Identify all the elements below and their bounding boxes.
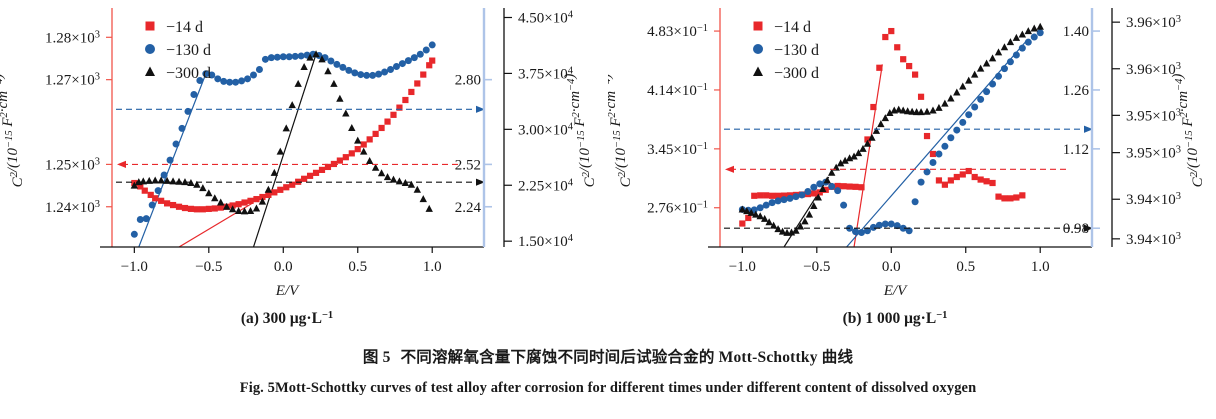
annotation-arrowhead (725, 166, 734, 173)
x-tick-label: 1.0 (1031, 259, 1050, 275)
marker-square (378, 125, 384, 131)
marker-triangle (995, 48, 1002, 55)
marker-square (858, 184, 864, 190)
marker-circle (941, 143, 948, 150)
marker-square (390, 112, 396, 118)
marker-circle (423, 47, 430, 54)
marker-square (989, 180, 995, 186)
fit-line (253, 54, 316, 247)
marker-square (402, 97, 408, 103)
marker-circle (983, 88, 990, 95)
marker-square (367, 136, 373, 142)
inner-right-tick-label: 1.40 (1063, 24, 1089, 40)
marker-circle (852, 228, 859, 235)
marker-circle (935, 150, 942, 157)
right-y-tick-label: 3.95×103 (1126, 145, 1181, 162)
figure-mott-schottky: −1.0−0.50.00.51.0E/V(a) 300 μg·L−11.28×1… (0, 0, 1216, 419)
marker-circle (912, 198, 919, 205)
marker-square (277, 187, 283, 193)
marker-triangle (971, 71, 978, 78)
caption-chinese-number: 图 5 (363, 349, 391, 366)
panel-a-plot: −1.0−0.50.00.51.0E/V(a) 300 μg·L−11.28×1… (0, 0, 608, 340)
marker-triangle (420, 195, 427, 202)
marker-square (420, 71, 426, 77)
marker-circle (798, 191, 805, 198)
marker-triangle (1037, 23, 1044, 30)
panel-a-300: −1.0−0.50.00.51.0E/V(a) 300 μg·L−11.28×1… (0, 0, 608, 340)
marker-triangle (300, 63, 307, 70)
marker-circle (834, 187, 841, 194)
marker-circle (781, 196, 788, 203)
marker-square (983, 178, 989, 184)
marker-square (313, 170, 319, 176)
caption-english-number: Fig. 5 (240, 380, 275, 396)
right-y-tick-label: 3.94×103 (1126, 191, 1181, 208)
marker-triangle (289, 101, 296, 108)
inner-right-tick-label: 2.80 (455, 73, 481, 89)
marker-triangle (414, 186, 421, 193)
left-y-tick-label: 2.76×10−1 (647, 200, 708, 217)
marker-circle (244, 75, 251, 82)
marker-square (253, 196, 259, 202)
marker-square (235, 201, 241, 207)
panel-subcaption: (a) 300 μg·L−1 (241, 310, 333, 327)
annotation-arrowhead (117, 161, 126, 168)
marker-triangle (953, 89, 960, 96)
marker-square (924, 133, 930, 139)
marker-triangle (965, 77, 972, 84)
marker-square (1001, 195, 1007, 201)
marker-square (349, 150, 355, 156)
marker-triangle (1025, 27, 1032, 34)
marker-square (769, 193, 775, 199)
caption-chinese-text: 不同溶解氧含量下腐蚀不同时间后试验合金的 Mott-Schottky 曲线 (401, 349, 854, 366)
legend-marker-circle (145, 44, 155, 54)
marker-circle (333, 61, 340, 68)
marker-square (206, 206, 212, 212)
marker-circle (214, 75, 221, 82)
marker-triangle (396, 177, 403, 184)
marker-circle (155, 187, 162, 194)
x-tick-label: −1.0 (121, 259, 148, 275)
marker-circle (995, 73, 1002, 80)
panel-b-1000: −1.0−0.50.00.51.0E/V(b) 1 000 μg·L−14.83… (608, 0, 1216, 340)
marker-circle (357, 71, 364, 78)
right-y-tick-label: 3.95×103 (1126, 107, 1181, 124)
marker-circle (411, 54, 418, 61)
marker-square (271, 189, 277, 195)
x-axis-title: E/V (275, 283, 300, 299)
marker-square (283, 184, 289, 190)
marker-square (241, 199, 247, 205)
marker-circle (977, 96, 984, 103)
marker-triangle (342, 110, 349, 117)
left-axis-title: C2/(10−15 F2·cm−4) (0, 74, 26, 188)
marker-circle (1031, 34, 1038, 41)
marker-circle (369, 72, 376, 79)
left-y-tick-label: 1.27×103 (45, 72, 100, 89)
marker-circle (953, 127, 960, 134)
legend-label: −130 d (166, 42, 211, 59)
x-axis-title: E/V (883, 283, 908, 299)
marker-circle (250, 72, 257, 79)
marker-square (307, 173, 313, 179)
marker-square (954, 174, 960, 180)
marker-circle (870, 224, 877, 231)
inner-right-tick-label: 2.24 (455, 200, 482, 216)
marker-square (960, 171, 966, 177)
marker-square (936, 177, 942, 183)
marker-circle (1007, 58, 1014, 65)
right-y-tick-label: 3.94×103 (1126, 231, 1181, 248)
legend-marker-square (146, 22, 155, 31)
legend-label: −14 d (166, 19, 203, 36)
marker-triangle (354, 137, 361, 144)
marker-square (1013, 194, 1019, 200)
marker-circle (190, 91, 197, 98)
left-y-tick-label: 4.83×10−1 (647, 23, 708, 40)
legend-marker-triangle (753, 67, 763, 77)
marker-circle (381, 69, 388, 76)
marker-square (373, 131, 379, 137)
marker-circle (167, 157, 174, 164)
marker-circle (1019, 45, 1026, 52)
marker-square (182, 205, 188, 211)
marker-square (978, 176, 984, 182)
marker-circle (143, 215, 150, 222)
marker-triangle (390, 176, 397, 183)
marker-circle (989, 80, 996, 87)
marker-square (763, 192, 769, 198)
marker-triangle (217, 199, 224, 206)
marker-triangle (277, 148, 284, 155)
marker-triangle (265, 186, 272, 193)
left-y-tick-label: 1.28×103 (45, 29, 100, 46)
marker-triangle (366, 157, 373, 164)
marker-circle (363, 72, 370, 79)
marker-square (164, 200, 170, 206)
marker-square (158, 198, 164, 204)
marker-circle (840, 202, 847, 209)
marker-triangle (169, 177, 176, 184)
marker-square (355, 146, 361, 152)
marker-square (361, 141, 367, 147)
left-y-tick-label: 3.45×10−1 (647, 141, 708, 158)
marker-circle (405, 57, 412, 64)
marker-circle (965, 111, 972, 118)
marker-square (1007, 195, 1013, 201)
marker-triangle (983, 60, 990, 67)
marker-triangle (426, 205, 433, 212)
marker-square (343, 154, 349, 160)
marker-triangle (947, 94, 954, 101)
marker-circle (137, 216, 144, 223)
marker-triangle (360, 148, 367, 155)
marker-circle (292, 53, 299, 60)
marker-circle (1037, 29, 1044, 36)
marker-square (906, 63, 912, 69)
marker-circle (268, 54, 275, 61)
marker-square (188, 206, 194, 212)
marker-circle (971, 104, 978, 111)
marker-square (912, 71, 918, 77)
marker-circle (959, 119, 966, 126)
marker-circle (769, 199, 776, 206)
marker-circle (226, 79, 233, 86)
x-tick-label: 0.0 (274, 259, 293, 275)
marker-square (918, 94, 924, 100)
marker-triangle (324, 67, 331, 74)
marker-triangle (929, 106, 936, 113)
marker-triangle (384, 173, 391, 180)
marker-circle (1013, 51, 1020, 58)
x-tick-label: −0.5 (195, 259, 222, 275)
marker-triangle (348, 124, 355, 131)
marker-circle (256, 66, 263, 73)
marker-triangle (205, 189, 212, 196)
marker-circle (810, 184, 817, 191)
marker-circle (1025, 39, 1032, 46)
marker-square (247, 198, 253, 204)
x-tick-label: −1.0 (729, 259, 756, 275)
marker-circle (161, 171, 168, 178)
marker-circle (393, 63, 400, 70)
marker-circle (339, 64, 346, 71)
marker-square (194, 206, 200, 212)
marker-circle (775, 197, 782, 204)
marker-circle (929, 159, 936, 166)
legend: −14 d−130 d−300 d (753, 19, 819, 82)
marker-circle (345, 67, 352, 74)
x-tick-label: 0.5 (348, 259, 367, 275)
left-y-tick-label: 4.14×10−1 (647, 82, 708, 99)
legend-marker-circle (753, 44, 763, 54)
marker-circle (429, 41, 436, 48)
legend-marker-square (754, 22, 763, 31)
marker-circle (220, 78, 227, 85)
legend-label: −14 d (774, 19, 811, 36)
marker-circle (238, 77, 245, 84)
panel-subcaption: (b) 1 000 μg·L−1 (843, 310, 948, 327)
marker-circle (828, 183, 835, 190)
marker-square (751, 193, 757, 199)
marker-square (841, 183, 847, 189)
marker-triangle (253, 204, 260, 211)
legend-label: −300 d (774, 65, 819, 82)
marker-circle (1001, 65, 1008, 72)
inner-right-tick-label: 2.52 (455, 157, 481, 173)
marker-square (870, 104, 876, 110)
panel-b-plot: −1.0−0.50.00.51.0E/V(b) 1 000 μg·L−14.83… (608, 0, 1216, 340)
marker-triangle (941, 100, 948, 107)
marker-square (176, 204, 182, 210)
marker-circle (888, 220, 895, 227)
inner-right-tick-label: 0.98 (1063, 221, 1089, 237)
left-y-tick-label: 1.25×103 (45, 156, 100, 173)
right-y-tick-label: 4.50×104 (518, 9, 574, 26)
inner-right-tick-label: 1.26 (1063, 83, 1090, 99)
legend-marker-triangle (145, 67, 155, 77)
marker-triangle (1031, 25, 1038, 32)
marker-circle (327, 58, 334, 65)
caption-chinese: 图 5不同溶解氧含量下腐蚀不同时间后试验合金的 Mott-Schottky 曲线 (0, 345, 1216, 367)
marker-triangle (211, 194, 218, 201)
marker-triangle (977, 65, 984, 72)
marker-square (852, 184, 858, 190)
marker-square (876, 65, 882, 71)
marker-square (930, 151, 936, 157)
marker-triangle (336, 95, 343, 102)
marker-square (739, 220, 745, 226)
right-y-tick-label: 2.25×104 (518, 177, 574, 194)
legend: −14 d−130 d−300 d (145, 19, 211, 82)
marker-circle (882, 220, 889, 227)
marker-square (894, 44, 900, 50)
marker-circle (763, 202, 770, 209)
marker-circle (947, 134, 954, 141)
marker-circle (131, 231, 138, 238)
marker-square (942, 182, 948, 188)
marker-square (1019, 192, 1025, 198)
marker-circle (280, 53, 287, 60)
marker-circle (387, 66, 394, 73)
marker-circle (804, 188, 811, 195)
marker-triangle (271, 169, 278, 176)
marker-triangle (175, 178, 182, 185)
legend-label: −130 d (774, 42, 819, 59)
marker-square (408, 89, 414, 95)
series-2 (739, 29, 1044, 236)
marker-square (846, 183, 852, 189)
marker-circle (232, 79, 239, 86)
marker-triangle (810, 202, 817, 209)
marker-circle (375, 71, 382, 78)
marker-square (972, 174, 978, 180)
marker-triangle (989, 54, 996, 61)
marker-circle (858, 229, 865, 236)
marker-triangle (923, 108, 930, 115)
marker-square (200, 206, 206, 212)
right-y-tick-label: 3.96×103 (1126, 14, 1181, 31)
marker-triangle (294, 80, 301, 87)
marker-circle (417, 51, 424, 58)
marker-circle (787, 195, 794, 202)
marker-triangle (1001, 43, 1008, 50)
inner-right-tick-label: 1.12 (1063, 142, 1089, 158)
marker-circle (918, 179, 925, 186)
marker-circle (262, 56, 269, 63)
caption-english-text: Mott-Schottky curves of test alloy after… (275, 380, 976, 396)
marker-triangle (935, 104, 942, 111)
marker-square (948, 177, 954, 183)
right-y-tick-label: 1.50×104 (518, 233, 574, 250)
marker-square (888, 28, 894, 34)
marker-triangle (283, 124, 290, 131)
marker-triangle (959, 83, 966, 90)
marker-circle (286, 53, 293, 60)
x-tick-label: 0.5 (956, 259, 975, 275)
marker-triangle (877, 120, 884, 127)
marker-square (337, 157, 343, 163)
marker-circle (757, 204, 764, 211)
marker-circle (399, 60, 406, 67)
marker-circle (792, 193, 799, 200)
marker-square (811, 190, 817, 196)
marker-square (152, 195, 158, 201)
marker-square (882, 34, 888, 40)
left-axis-title: C2/(10−15 F2·cm−4) (608, 74, 634, 188)
left-y-tick-label: 1.24×103 (45, 199, 100, 216)
marker-square (142, 188, 148, 194)
marker-circle (173, 141, 180, 148)
marker-square (384, 119, 390, 125)
legend-label: −300 d (166, 65, 211, 82)
marker-circle (149, 202, 156, 209)
marker-square (429, 58, 435, 64)
marker-circle (298, 52, 305, 59)
marker-square (757, 192, 763, 198)
marker-square (301, 176, 307, 182)
marker-triangle (247, 207, 254, 214)
caption-english: Fig. 5Mott-Schottky curves of test alloy… (0, 380, 1216, 397)
marker-circle (351, 69, 358, 76)
marker-square (212, 205, 218, 211)
marker-circle (274, 54, 281, 61)
marker-triangle (873, 127, 880, 134)
marker-square (414, 80, 420, 86)
marker-square (319, 167, 325, 173)
x-tick-label: 1.0 (423, 259, 442, 275)
marker-square (900, 56, 906, 62)
marker-triangle (1007, 38, 1014, 45)
right-axis-title: C2/(10−15 F2·cm−4) (1170, 74, 1206, 188)
x-tick-label: 0.0 (882, 259, 901, 275)
marker-square (170, 202, 176, 208)
marker-circle (179, 125, 186, 132)
x-tick-label: −0.5 (803, 259, 830, 275)
marker-triangle (330, 80, 337, 87)
right-y-tick-label: 3.00×104 (518, 121, 574, 138)
marker-square (995, 194, 1001, 200)
